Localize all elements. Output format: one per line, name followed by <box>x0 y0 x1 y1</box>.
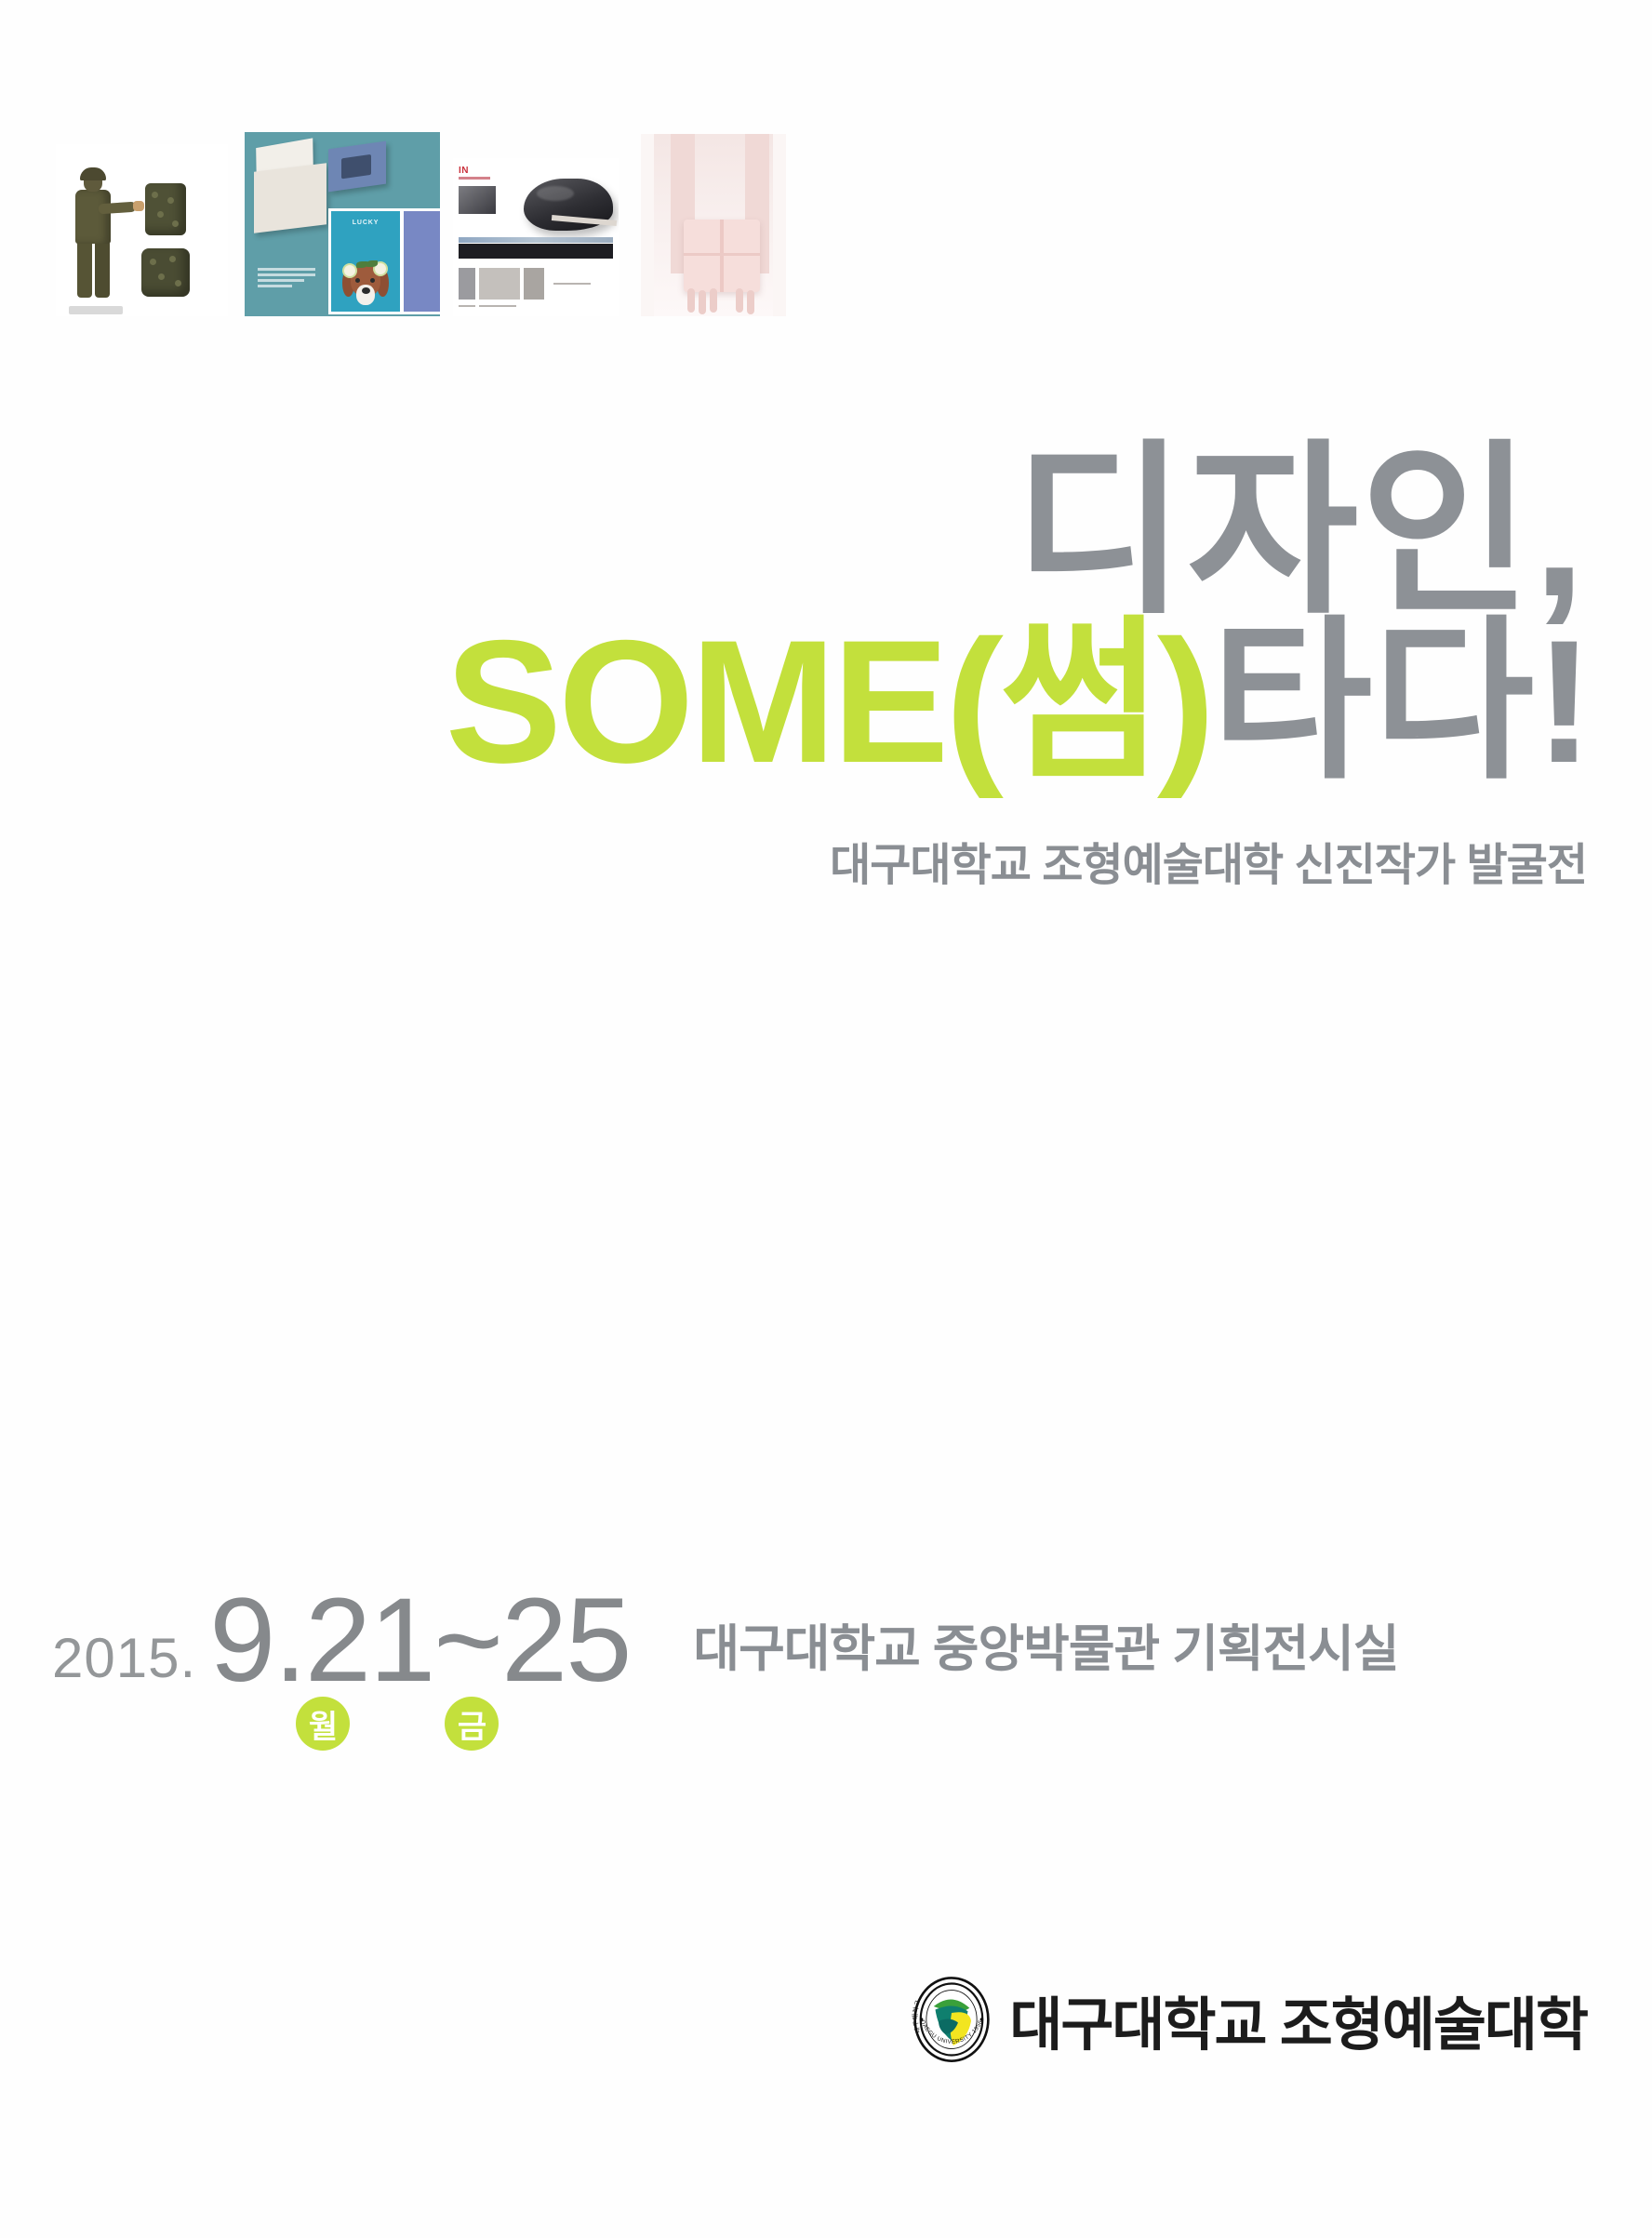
footer-branding: 대구대학교 DAEGU UNIVERSITY 1956 대구대학교 조형예술대학 <box>911 1974 1587 2065</box>
gallery-item-military-figure-models <box>56 144 228 316</box>
gallery-item-pink-bag-product-photo <box>641 134 786 316</box>
tactical-backpack-icon <box>141 248 190 297</box>
postcard-secondary <box>401 208 440 314</box>
soldier-figure-icon <box>67 171 121 311</box>
board-colorbar <box>459 244 613 259</box>
status-badge-end-day: 금 <box>445 1697 499 1751</box>
dog-illustration-icon <box>341 254 390 312</box>
tactical-vest-icon <box>145 183 186 235</box>
package-caption-lines <box>258 268 315 290</box>
gallery-item-goggle-product-board: IN <box>453 158 619 316</box>
status-badge-start-day: 월 <box>296 1697 350 1751</box>
page-title-line-2: SOME(썸)타다! <box>0 614 1652 789</box>
postcard-primary: LUCKY <box>328 208 403 314</box>
package-closed-icon <box>328 141 386 193</box>
gallery-strip: LUCKY <box>56 130 1079 316</box>
page-subtitle: 대구대학교 조형예술대학 신진작가 발굴전 <box>0 828 1652 893</box>
gallery-item-lucky-dog-postcard-package: LUCKY <box>245 132 440 316</box>
schedule-row: 2015. 9.21~25 월 금 대구대학교 중앙박물관 기획전시실 <box>52 1581 1592 1700</box>
package-open-icon <box>254 163 326 233</box>
exhibition-date: 2015. 9.21~25 월 금 <box>52 1581 630 1700</box>
page-title-line-1: 디자인, <box>0 437 1652 627</box>
daegu-university-emblem-icon: 대구대학교 DAEGU UNIVERSITY 1956 <box>911 1974 993 2065</box>
postcard-brand-word: LUCKY <box>331 220 400 226</box>
pink-bag-icon <box>684 220 760 292</box>
poster-canvas: LUCKY <box>0 0 1652 2238</box>
exhibition-venue: 대구대학교 중앙박물관 기획전시실 <box>693 1607 1398 1681</box>
board-detail-thumbnail <box>459 186 496 214</box>
title-block: 디자인, SOME(썸)타다! 대구대학교 조형예술대학 신진작가 발굴전 <box>0 437 1652 893</box>
page-title-tada-segment: 타다! <box>1211 604 1594 799</box>
board-brand-word: IN <box>459 166 469 176</box>
page-title-some-segment: SOME(썸) <box>446 604 1212 799</box>
exhibition-date-range: 9.21~25 <box>209 1581 630 1700</box>
exhibition-year: 2015. <box>52 1626 209 1690</box>
footer-organization-name: 대구대학교 조형예술대학 <box>1009 1978 1587 2061</box>
